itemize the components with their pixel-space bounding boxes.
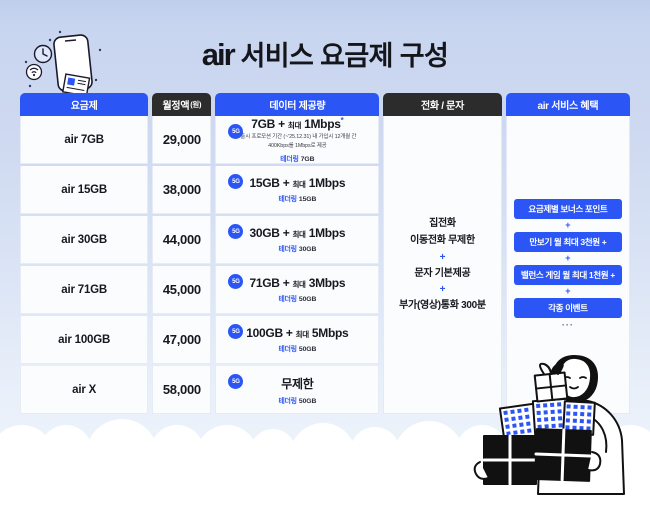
data-footnote-star: * xyxy=(341,116,344,125)
data-allowance-main: 71GB + 최대 3Mbps xyxy=(249,276,345,290)
plan-name: air 30GB xyxy=(61,234,107,246)
tethering-value: 15GB xyxy=(299,196,316,203)
table-row: 5G 100GB + 최대 5Mbps 테더링50GB xyxy=(215,316,379,364)
voice-line-sms: 문자 기본제공 xyxy=(399,265,486,283)
column-data-allowance: 5G 7GB + 최대 1Mbps* *출시 프로모션 기간 (~'25.12.… xyxy=(215,116,379,414)
tethering-label: 테더링 xyxy=(280,156,298,163)
table-row: 47,000 xyxy=(152,316,211,364)
data-join: + xyxy=(283,276,290,290)
5g-badge-icon: 5G xyxy=(228,224,243,239)
data-allowance-main: 30GB + 최대 1Mbps xyxy=(249,226,345,240)
table-row: 5G 7GB + 최대 1Mbps* *출시 프로모션 기간 (~'25.12.… xyxy=(215,116,379,164)
data-amount: 무제한 xyxy=(281,377,313,391)
column-header-price-label: 월정액 xyxy=(163,97,190,112)
plan-price: 58,000 xyxy=(163,382,201,397)
data-amount: 71GB xyxy=(249,276,279,290)
page-title: air 서비스 요금제 구성 xyxy=(0,34,650,73)
benefit-item-pedometer[interactable]: 만보기 월 최대 3천원 + xyxy=(514,232,622,252)
data-amount: 30GB xyxy=(249,226,279,240)
sky-gradient-top xyxy=(0,0,650,26)
data-amount: 7GB xyxy=(251,117,275,131)
data-speed: 3Mbps xyxy=(309,276,346,290)
tethering-value: 30GB xyxy=(299,246,316,253)
table-row: 44,000 xyxy=(152,216,211,264)
plan-name: air 100GB xyxy=(58,334,110,346)
data-speed: 1Mbps xyxy=(309,226,346,240)
table-row: air 100GB xyxy=(20,316,148,364)
benefit-more-indicator: ··· xyxy=(562,320,574,330)
table-row: 38,000 xyxy=(152,166,211,214)
table-row: 29,000 xyxy=(152,116,211,164)
data-allowance-main: 100GB + 최대 5Mbps xyxy=(246,326,348,340)
benefit-separator: + xyxy=(565,286,570,297)
tethering-info: 테더링50GB xyxy=(278,395,316,405)
plan-name: air X xyxy=(72,384,96,396)
column-header-voice-label: 전화 / 문자 xyxy=(421,97,464,112)
plan-price: 29,000 xyxy=(163,132,201,147)
data-note-line2: 400Kbps를 1Mbps로 제공 xyxy=(238,142,356,150)
tethering-label: 테더링 xyxy=(278,398,296,405)
table-row: air 15GB xyxy=(20,166,148,214)
data-join: + xyxy=(283,226,290,240)
data-amount: 15GB xyxy=(249,176,279,190)
benefit-item-events[interactable]: 각종 이벤트 xyxy=(514,298,622,318)
data-speed: 1Mbps xyxy=(304,117,341,131)
column-header-voice: 전화 / 문자 xyxy=(383,93,501,116)
data-speed-label: 최대 xyxy=(292,180,305,189)
tethering-value: 7GB xyxy=(301,156,315,163)
tethering-label: 테더링 xyxy=(278,346,296,353)
tethering-info: 테더링50GB xyxy=(278,293,316,303)
data-speed-label: 최대 xyxy=(292,280,305,289)
tethering-label: 테더링 xyxy=(278,246,296,253)
benefit-separator: + xyxy=(565,220,570,231)
table-row: air 7GB xyxy=(20,116,148,164)
data-join: + xyxy=(286,326,293,340)
column-prices: 29,000 38,000 44,000 45,000 47,000 58,00… xyxy=(152,116,211,414)
data-note: *출시 프로모션 기간 (~'25.12.31) 내 가입시 12개월 간 40… xyxy=(238,133,356,149)
data-speed: 1Mbps xyxy=(309,176,346,190)
plan-price: 38,000 xyxy=(163,182,201,197)
plan-name: air 15GB xyxy=(61,184,107,196)
data-join: + xyxy=(283,176,290,190)
voice-sms-content: 집전화 이동전화 무제한 + 문자 기본제공 + 부가(영상)통화 300분 xyxy=(399,215,486,315)
plan-price: 45,000 xyxy=(163,282,201,297)
tethering-info: 테더링30GB xyxy=(278,243,316,253)
data-allowance-main: 7GB + 최대 1Mbps* xyxy=(251,116,343,131)
column-header-benefits: air 서비스 혜택 xyxy=(506,93,630,116)
column-header-data: 데이터 제공량 xyxy=(215,93,379,116)
tethering-info: 테더링15GB xyxy=(278,193,316,203)
brand-name: air xyxy=(202,37,234,72)
tethering-value: 50GB xyxy=(299,296,316,303)
tethering-value: 50GB xyxy=(299,398,316,405)
plan-name: air 71GB xyxy=(61,284,107,296)
benefit-item-bonus-points[interactable]: 요금제별 보너스 포인트 xyxy=(514,199,622,219)
tethering-info: 테더링7GB xyxy=(280,153,314,163)
table-row: air 71GB xyxy=(20,266,148,314)
plan-price: 47,000 xyxy=(163,332,201,347)
tethering-value: 50GB xyxy=(299,346,316,353)
5g-badge-icon: 5G xyxy=(228,324,243,339)
data-allowance-main: 15GB + 최대 1Mbps xyxy=(249,176,345,190)
data-speed-label: 최대 xyxy=(296,330,309,339)
column-header-data-label: 데이터 제공량 xyxy=(269,97,325,112)
benefit-separator: + xyxy=(565,253,570,264)
column-header-price: 월정액(원) xyxy=(152,93,211,116)
data-amount: 100GB xyxy=(246,326,283,340)
page-title-wrap: air 서비스 요금제 구성 xyxy=(0,34,650,73)
5g-badge-icon: 5G xyxy=(228,274,243,289)
plan-name: air 7GB xyxy=(64,134,104,146)
benefit-item-balance-game[interactable]: 밸런스 게임 월 최대 1천원 + xyxy=(514,265,622,285)
5g-badge-icon: 5G xyxy=(228,174,243,189)
voice-line-video-call: 부가(영상)통화 300분 xyxy=(399,297,486,315)
column-header-benefits-label: air 서비스 혜택 xyxy=(537,97,598,112)
data-speed-label: 최대 xyxy=(288,121,301,130)
table-row: 45,000 xyxy=(152,266,211,314)
data-speed: 5Mbps xyxy=(312,326,349,340)
voice-line-mobile-unlimited: 이동전화 무제한 xyxy=(399,232,486,250)
tethering-label: 테더링 xyxy=(278,296,296,303)
voice-line-home-phone: 집전화 xyxy=(399,215,486,233)
table-row: 5G 무제한 테더링50GB xyxy=(215,366,379,414)
5g-badge-icon: 5G xyxy=(228,374,243,389)
benefits-list: 요금제별 보너스 포인트 + 만보기 월 최대 3천원 + + 밸런스 게임 월… xyxy=(507,199,629,331)
column-plan-names: air 7GB air 15GB air 30GB air 71GB air 1… xyxy=(20,116,148,414)
voice-plus-2: + xyxy=(399,282,486,297)
data-allowance-main: 무제한 xyxy=(281,375,313,392)
table-row: 5G 30GB + 최대 1Mbps 테더링30GB xyxy=(215,216,379,264)
table-row: 5G 71GB + 최대 3Mbps 테더링50GB xyxy=(215,266,379,314)
table-row: 58,000 xyxy=(152,366,211,414)
column-header-plan-label: 요금제 xyxy=(71,97,98,112)
table-row: 5G 15GB + 최대 1Mbps 테더링15GB xyxy=(215,166,379,214)
data-join: + xyxy=(278,117,285,131)
data-note-line1: *출시 프로모션 기간 (~'25.12.31) 내 가입시 12개월 간 xyxy=(238,133,356,141)
tethering-label: 테더링 xyxy=(278,196,296,203)
data-speed-label: 최대 xyxy=(292,230,305,239)
table-row: air X xyxy=(20,366,148,414)
person-illustration xyxy=(456,344,646,499)
tethering-info: 테더링50GB xyxy=(278,343,316,353)
voice-plus-1: + xyxy=(399,250,486,265)
page-title-text: 서비스 요금제 구성 xyxy=(241,41,449,71)
plan-price: 44,000 xyxy=(163,232,201,247)
table-row: air 30GB xyxy=(20,216,148,264)
column-header-price-unit: (원) xyxy=(190,99,201,110)
column-header-plan: 요금제 xyxy=(20,93,148,116)
table-header-row: 요금제 월정액(원) 데이터 제공량 전화 / 문자 air 서비스 혜택 xyxy=(20,93,630,116)
